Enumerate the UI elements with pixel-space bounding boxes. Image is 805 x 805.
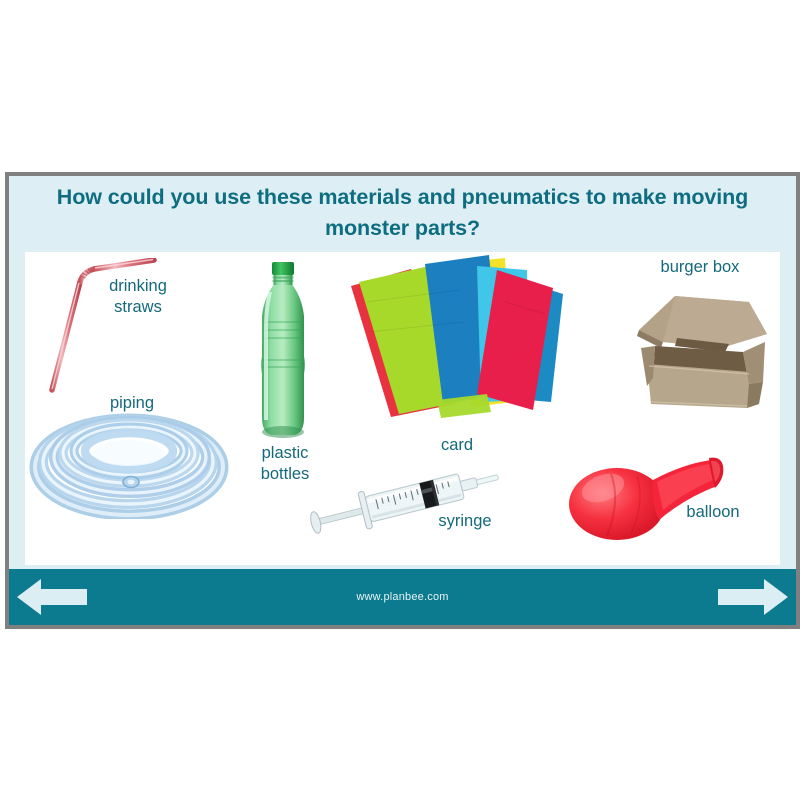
- material-label-burger-box: burger box: [625, 257, 775, 278]
- burger-box-icon: [617, 286, 777, 416]
- slide-frame: How could you use these materials and pn…: [5, 172, 800, 629]
- footer-url[interactable]: www.planbee.com: [356, 591, 448, 603]
- materials-content-card: drinking straws: [25, 252, 780, 565]
- piping-coil-icon: [29, 407, 229, 519]
- slide-title: How could you use these materials and pn…: [38, 182, 768, 244]
- plastic-bottle-icon: [253, 260, 313, 445]
- card-stack-icon: [337, 252, 577, 437]
- syringe-icon: [301, 450, 511, 550]
- balloon-icon: [565, 448, 745, 546]
- next-slide-arrow-icon[interactable]: [716, 575, 790, 619]
- material-label-piping: piping: [77, 393, 187, 414]
- material-label-drinking-straws: drinking straws: [83, 276, 193, 318]
- previous-slide-arrow-icon[interactable]: [15, 575, 89, 619]
- title-band: How could you use these materials and pn…: [9, 176, 796, 250]
- footer-bar: www.planbee.com: [9, 569, 796, 625]
- material-label-syringe: syringe: [415, 511, 515, 532]
- material-label-balloon: balloon: [663, 502, 763, 523]
